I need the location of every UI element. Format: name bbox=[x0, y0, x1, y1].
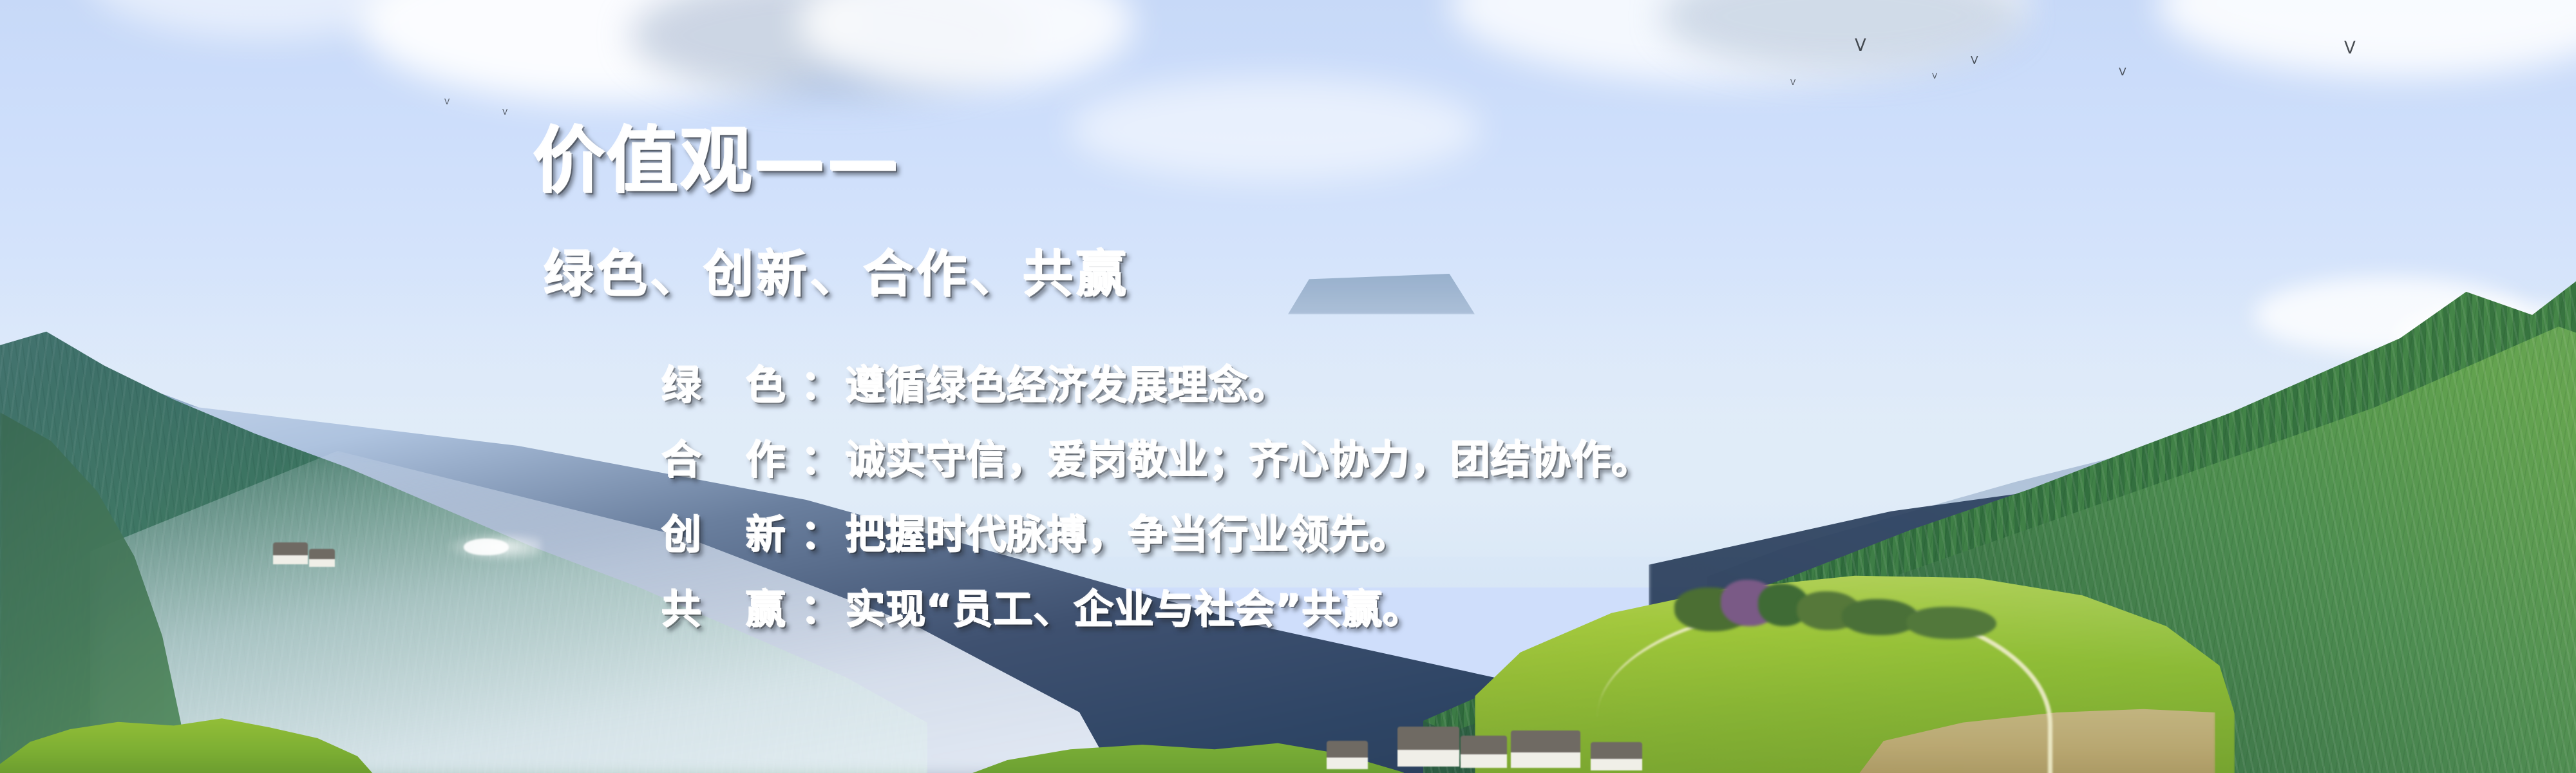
value-row: 绿 色 ： 遵循绿色经济发展理念。 bbox=[662, 366, 1653, 406]
value-description: 把握时代脉搏，争当行业领先。 bbox=[846, 515, 1411, 555]
value-row: 合 作 ： 诚实守信，爱岗敬业；齐心协力，团结协作。 bbox=[662, 441, 1653, 481]
page-title: 价值观—— bbox=[533, 122, 901, 202]
value-colon: ： bbox=[801, 441, 842, 481]
value-label: 绿 色 bbox=[662, 366, 801, 406]
value-description: 实现“员工、企业与社会”共赢。 bbox=[846, 590, 1424, 630]
value-colon: ： bbox=[801, 366, 842, 406]
values-banner: ᐯ ᐯ ᐯ ᐯ ᐯ ᐯ ᐯ ᐯ bbox=[0, 0, 2576, 773]
value-label: 合 作 bbox=[662, 441, 801, 481]
values-list: 绿 色 ： 遵循绿色经济发展理念。 合 作 ： 诚实守信，爱岗敬业；齐心协力，团… bbox=[662, 366, 1653, 630]
subtitle: 绿色、创新、合作、共赢 bbox=[544, 248, 1130, 303]
text-overlay: 价值观—— 绿色、创新、合作、共赢 绿 色 ： 遵循绿色经济发展理念。 合 作 … bbox=[0, 0, 2576, 773]
value-description: 诚实守信，爱岗敬业；齐心协力，团结协作。 bbox=[846, 441, 1653, 481]
value-description: 遵循绿色经济发展理念。 bbox=[846, 366, 1290, 406]
value-row: 共 赢 ： 实现“员工、企业与社会”共赢。 bbox=[662, 590, 1653, 630]
value-colon: ： bbox=[801, 515, 842, 555]
value-label: 创 新 bbox=[662, 515, 801, 555]
value-colon: ： bbox=[801, 590, 842, 630]
value-row: 创 新 ： 把握时代脉搏，争当行业领先。 bbox=[662, 515, 1653, 555]
value-label: 共 赢 bbox=[662, 590, 801, 630]
